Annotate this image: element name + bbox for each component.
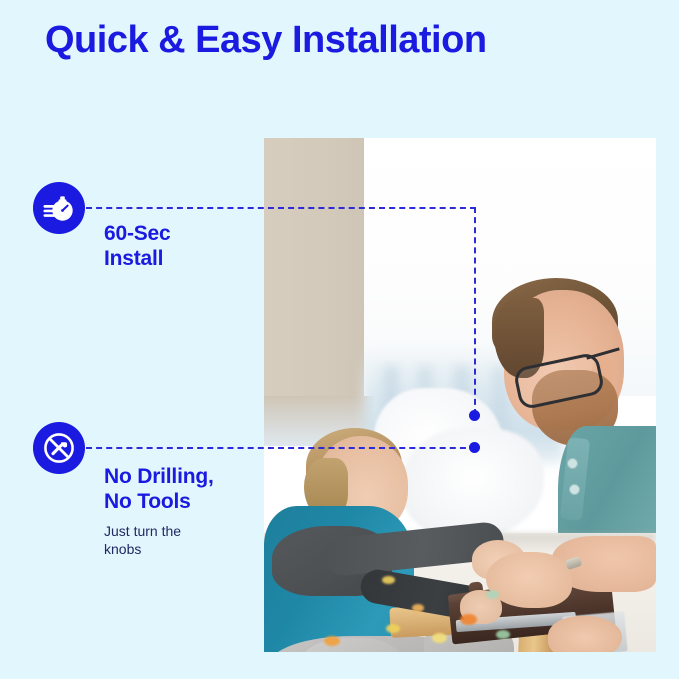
feature-callout-no-tools: No Drilling, No Tools Just turn the knob… [104,465,214,559]
callout-connector-line-speed-vertical [474,207,476,415]
photo-shirt-button [569,484,580,495]
photo-wall-beige [264,138,364,396]
feature-badge-no-tools [33,422,85,474]
feature-subtitle-no-tools: Just turn the knobs [104,522,214,560]
callout-connector-line-notools [86,447,476,449]
photo-shirt-button [567,458,578,469]
no-tools-hammer-icon [42,431,76,465]
feature-title-no-tools: No Drilling, No Tools [104,465,214,515]
stopwatch-speed-icon [42,191,76,225]
photo-bedding-dot [382,576,395,584]
photo-bedding-dot [486,590,499,599]
photo-bedding-dot [432,633,447,643]
feature-callout-speed: 60-Sec Install [104,222,171,272]
page-title: Quick & Easy Installation [45,18,487,64]
photo-bedding-dot [460,614,477,625]
photo-bedding-dot [412,604,424,612]
feature-badge-speed [33,182,85,234]
photo-man-hand-upper [486,552,572,608]
callout-connector-line-speed-horizontal [86,207,476,209]
photo-man-hand-lower [548,616,622,652]
callout-endpoint-dot-notools [469,442,480,453]
photo-bedding-dot [386,624,400,633]
photo-bedding-dot [496,630,510,639]
photo-bedding-dot [324,636,340,646]
feature-title-speed: 60-Sec Install [104,222,171,272]
infographic-panel: Quick & Easy Installation [0,0,679,679]
product-lifestyle-photo [264,138,656,652]
callout-endpoint-dot-speed [469,410,480,421]
